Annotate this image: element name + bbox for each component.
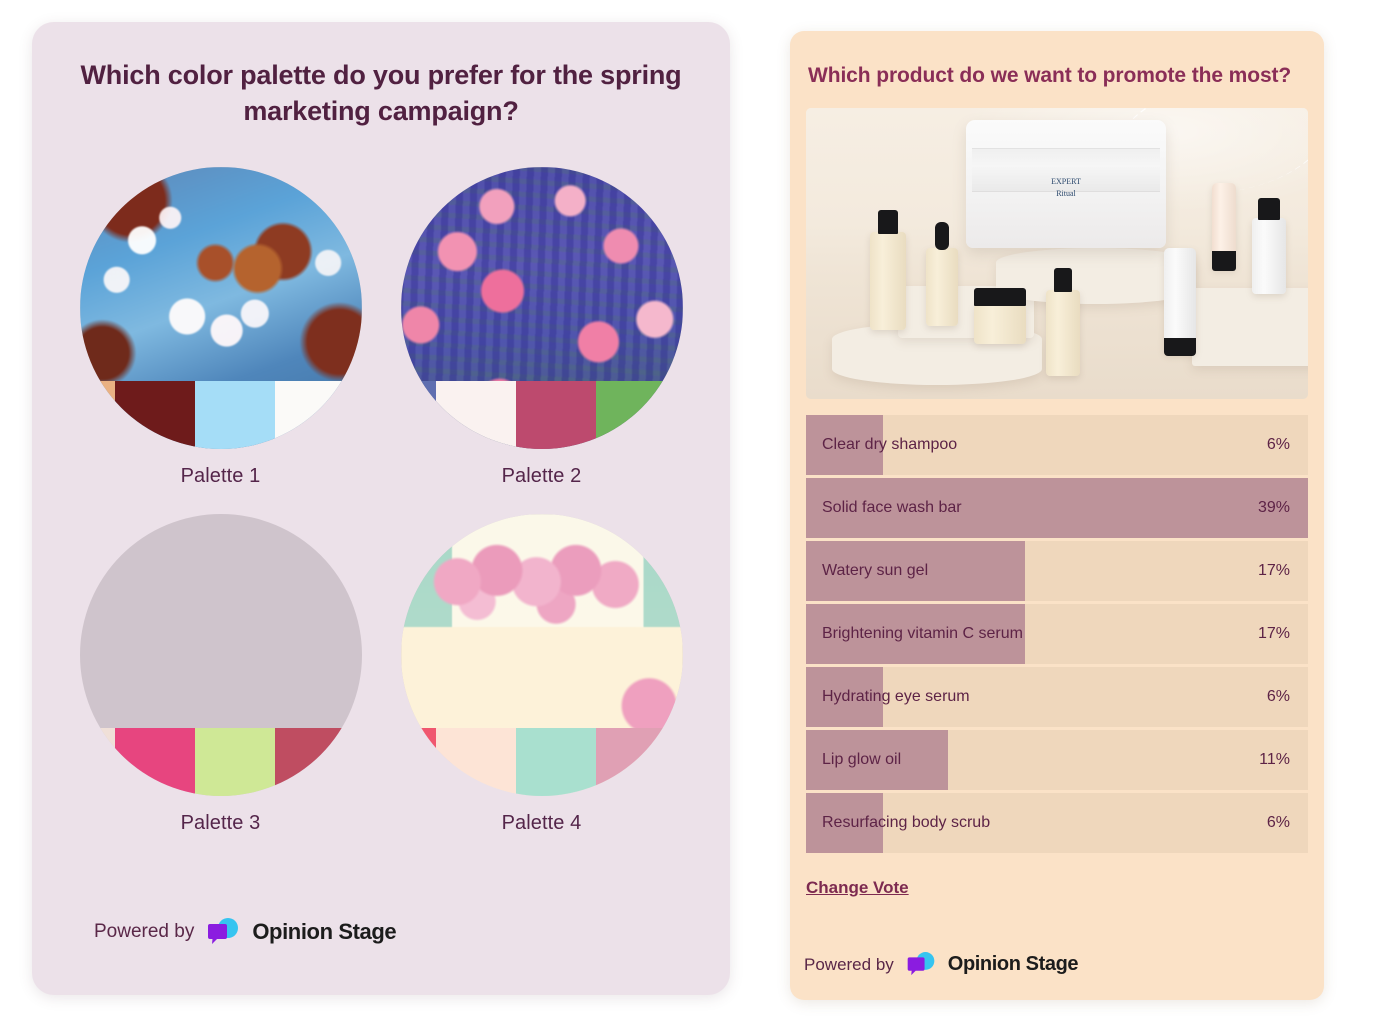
tube-cap bbox=[1164, 338, 1196, 356]
left-powered-by-block[interactable]: Powered by Opinion Stage bbox=[94, 917, 396, 947]
swatch-blush-cream bbox=[436, 728, 516, 796]
left-opinion-stage-brand: Opinion Stage bbox=[252, 919, 396, 945]
product-spray-bottle-1 bbox=[870, 232, 906, 330]
swatch-sky-blue bbox=[195, 381, 275, 449]
result-row-clear-dry-shampoo[interactable]: Clear dry shampoo 6% bbox=[806, 415, 1308, 475]
result-label: Resurfacing body scrub bbox=[806, 814, 990, 832]
palette-4-image[interactable] bbox=[401, 514, 683, 796]
product-promotion-poll-card: Which product do we want to promote the … bbox=[790, 31, 1324, 1000]
palette-4-label: Palette 4 bbox=[502, 812, 582, 835]
result-row-lip-glow-oil[interactable]: Lip glow oil 11% bbox=[806, 730, 1308, 790]
poll-results-bars: Clear dry shampoo 6% Solid face wash bar… bbox=[806, 415, 1308, 853]
opinion-stage-logo-icon bbox=[905, 951, 937, 978]
result-percent: 6% bbox=[1267, 436, 1290, 454]
swatch-dusty-pink bbox=[596, 728, 683, 796]
poll-option-palette-4[interactable]: Palette 4 bbox=[381, 514, 702, 835]
swatch-watermelon bbox=[401, 728, 436, 796]
swatch-cream bbox=[80, 728, 115, 796]
swatch-peach bbox=[80, 381, 115, 449]
result-label: Lip glow oil bbox=[806, 751, 901, 769]
color-palette-poll-card: Which color palette do you prefer for th… bbox=[32, 22, 730, 995]
product-cream-jar bbox=[974, 304, 1026, 344]
swatch-off-white bbox=[436, 381, 516, 449]
palette-3-label: Palette 3 bbox=[181, 812, 261, 835]
palette-2-label: Palette 2 bbox=[502, 465, 582, 488]
result-row-resurfacing-body-scrub[interactable]: Resurfacing body scrub 6% bbox=[806, 793, 1308, 853]
swatch-white bbox=[275, 381, 362, 449]
swatch-mint bbox=[516, 728, 596, 796]
result-label: Clear dry shampoo bbox=[806, 436, 957, 454]
bottle-cap bbox=[878, 210, 898, 234]
change-vote-link[interactable]: Change Vote bbox=[806, 878, 909, 898]
swatch-pink bbox=[115, 728, 195, 796]
product-tube-calming bbox=[1164, 248, 1196, 354]
poll-option-palette-1[interactable]: Palette 1 bbox=[60, 167, 381, 488]
bottle-cap-2 bbox=[1054, 268, 1072, 292]
product-set-photo: EXPERT Ritual bbox=[806, 108, 1308, 399]
screenshot-root: Which color palette do you prefer for th… bbox=[0, 0, 1383, 1029]
palette-1-image[interactable] bbox=[80, 167, 362, 449]
podium-box-right bbox=[1192, 288, 1308, 366]
product-tube-peach bbox=[1212, 183, 1236, 269]
swatch-rose bbox=[516, 381, 596, 449]
result-row-solid-face-wash-bar[interactable]: Solid face wash bar 39% bbox=[806, 478, 1308, 538]
product-white-bottle bbox=[1252, 218, 1286, 294]
result-label: Watery sun gel bbox=[806, 562, 928, 580]
tube-cap-2 bbox=[1212, 251, 1236, 271]
result-percent: 6% bbox=[1267, 688, 1290, 706]
palette-1-swatch-strip bbox=[80, 381, 362, 449]
result-percent: 39% bbox=[1258, 499, 1290, 517]
palette-options-grid: Palette 1 Palette 2 bbox=[60, 167, 702, 835]
palette-1-label: Palette 1 bbox=[181, 465, 261, 488]
result-percent: 17% bbox=[1258, 625, 1290, 643]
result-percent: 11% bbox=[1259, 751, 1290, 769]
result-label: Brightening vitamin C serum bbox=[806, 625, 1023, 643]
result-row-brightening-vitamin-c-serum[interactable]: Brightening vitamin C serum 17% bbox=[806, 604, 1308, 664]
result-row-hydrating-eye-serum[interactable]: Hydrating eye serum 6% bbox=[806, 667, 1308, 727]
poll-option-palette-2[interactable]: Palette 2 bbox=[381, 167, 702, 488]
palette-3-swatch-strip bbox=[80, 728, 362, 796]
pouch-label: EXPERT Ritual bbox=[966, 176, 1166, 200]
left-poll-question: Which color palette do you prefer for th… bbox=[60, 58, 702, 129]
right-powered-by-block[interactable]: Powered by Opinion Stage bbox=[804, 951, 1078, 978]
expert-ritual-pouch: EXPERT Ritual bbox=[966, 120, 1166, 248]
result-percent: 17% bbox=[1258, 562, 1290, 580]
product-dropper-serum bbox=[926, 248, 958, 326]
swatch-maroon bbox=[115, 381, 195, 449]
swatch-dark-rose bbox=[275, 728, 362, 796]
right-powered-by-text: Powered by bbox=[804, 955, 894, 975]
white-bottle-cap bbox=[1258, 198, 1280, 220]
swatch-blue-violet bbox=[401, 381, 436, 449]
jar-lid bbox=[974, 288, 1026, 306]
right-opinion-stage-brand: Opinion Stage bbox=[948, 953, 1078, 976]
palette-4-swatch-strip bbox=[401, 728, 683, 796]
swatch-light-green bbox=[195, 728, 275, 796]
result-label: Hydrating eye serum bbox=[806, 688, 970, 706]
swatch-green bbox=[596, 381, 683, 449]
palette-3-image[interactable] bbox=[80, 514, 362, 796]
dropper-cap bbox=[935, 222, 949, 250]
palette-2-image[interactable] bbox=[401, 167, 683, 449]
result-label: Solid face wash bar bbox=[806, 499, 962, 517]
result-percent: 6% bbox=[1267, 814, 1290, 832]
poll-option-palette-3[interactable]: Palette 3 bbox=[60, 514, 381, 835]
product-spray-bottle-2 bbox=[1046, 290, 1080, 376]
result-row-watery-sun-gel[interactable]: Watery sun gel 17% bbox=[806, 541, 1308, 601]
pouch-label-line1: EXPERT bbox=[1051, 177, 1081, 186]
opinion-stage-logo-icon bbox=[205, 917, 241, 947]
pouch-label-line2: Ritual bbox=[1056, 189, 1076, 198]
right-poll-question: Which product do we want to promote the … bbox=[806, 53, 1308, 91]
palette-2-swatch-strip bbox=[401, 381, 683, 449]
left-powered-by-text: Powered by bbox=[94, 921, 194, 943]
